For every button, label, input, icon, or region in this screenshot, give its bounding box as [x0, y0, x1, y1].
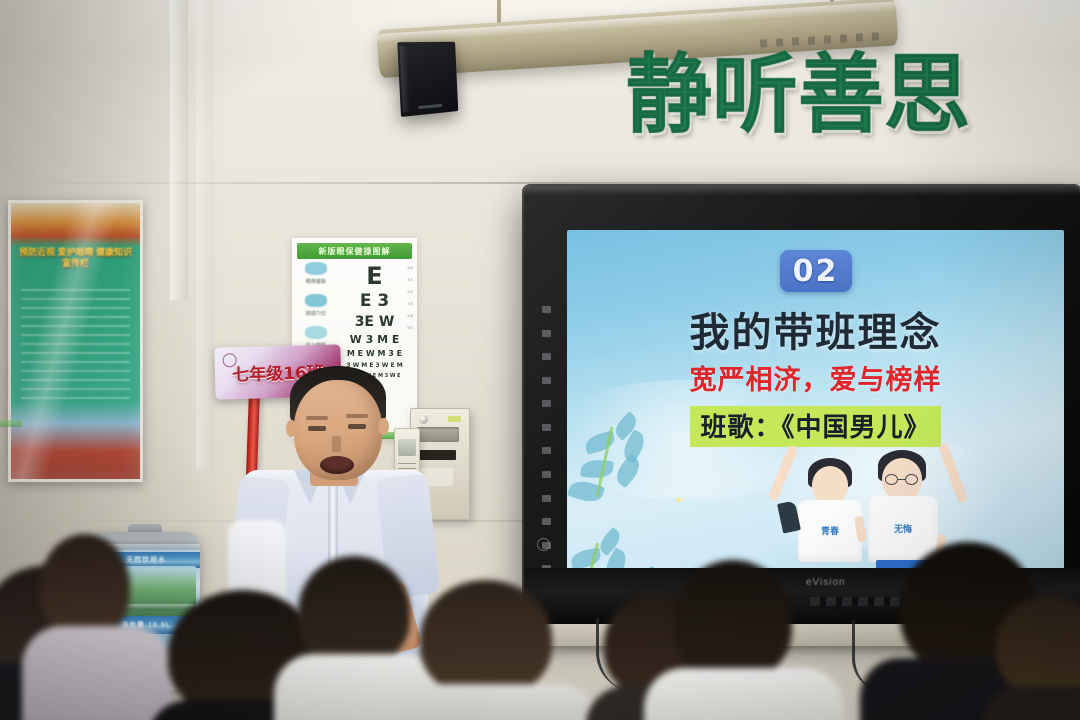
- scale-tick: 4.4: [405, 286, 416, 298]
- eye-chart-row: M E W M 3 E: [340, 347, 410, 360]
- classroom-photo: 静听善思 预防近视 爱护眼睛 健康知识宣传栏 新版眼保健操图解 眼保健操 按揉穴…: [0, 0, 1080, 720]
- board-button[interactable]: [542, 518, 551, 525]
- poster-glare: [11, 203, 140, 479]
- eye-exercise-caption-2: 按揉穴位: [297, 310, 335, 317]
- wall-speaker: [397, 42, 458, 117]
- wall-seam: [0, 182, 1080, 184]
- wall-pilaster-2: [196, 0, 214, 470]
- speaker-sheen: [399, 46, 410, 112]
- kid-right-arm-raised: [938, 442, 969, 504]
- audience-shoulders: [982, 686, 1080, 720]
- leaf: [611, 454, 644, 489]
- eye-chart-row: W 3 M E: [340, 331, 410, 347]
- board-button[interactable]: [542, 377, 551, 384]
- teacher-eye-left: [308, 426, 326, 431]
- eye-chart-row: E 3: [340, 290, 410, 312]
- teacher-eyebrow-left: [306, 416, 328, 420]
- board-button[interactable]: [542, 471, 551, 478]
- board-button[interactable]: [542, 424, 551, 431]
- eye-chart-header: 新版眼保健操图解: [297, 243, 412, 259]
- section-number-badge: 02: [780, 250, 852, 292]
- audience-head: [298, 556, 410, 666]
- kid-left-head: [812, 466, 848, 504]
- board-button[interactable]: [542, 353, 551, 360]
- slide-subtitle: 宽严相济，爱与榜样: [567, 358, 1064, 397]
- presentation-slide: ✦ ✦ 02 我的带班理念 宽严相济，爱与榜样 班歌：《中国男儿》: [567, 230, 1064, 570]
- class-song-label: 班歌：《中国男儿》: [690, 406, 940, 447]
- teacher-nose: [332, 436, 341, 452]
- board-bezel-highlight: [524, 186, 1080, 196]
- eye-exercise-icon-1: [305, 262, 327, 275]
- leaf: [580, 459, 613, 480]
- audience-head: [420, 580, 552, 696]
- scale-tick: 4.8: [405, 310, 416, 322]
- scale-tick: 5.0: [405, 322, 416, 334]
- eye-exercise-icon-3: [305, 326, 327, 339]
- scale-tick: 4.2: [405, 274, 416, 286]
- teacher-eye-right: [348, 424, 366, 429]
- teacher-eyebrow-right: [346, 414, 368, 418]
- board-side-buttons[interactable]: [542, 306, 551, 596]
- wall-motto: 静听善思: [626, 52, 970, 138]
- scale-tick: 4.0: [405, 262, 416, 274]
- audience-head: [996, 596, 1080, 696]
- teacher-ear-right: [378, 418, 389, 435]
- scale-tick: 4.6: [405, 298, 416, 310]
- kid-right-glasses-right: [905, 474, 918, 485]
- eye-exercise-caption-1: 眼保健操: [297, 278, 335, 285]
- eye-chart-row: E: [340, 262, 410, 290]
- teacher-mouth-speaking: [320, 456, 354, 474]
- kid-right-shirt-text: 无悔: [868, 522, 938, 535]
- board-button[interactable]: [542, 400, 551, 407]
- board-button[interactable]: [542, 306, 551, 313]
- kid-right-glasses-bridge: [898, 479, 905, 480]
- wall-green-strip-2: [0, 420, 22, 427]
- audience-member: [660, 560, 830, 720]
- audience-shoulders: [398, 684, 598, 720]
- slide-sparkle: ✦: [673, 492, 685, 509]
- audience-member: [412, 580, 582, 720]
- audience-shoulders: [644, 668, 844, 720]
- teacher-ear-left: [286, 420, 297, 437]
- slide-song-row: 班歌：《中国男儿》: [567, 406, 1064, 447]
- eye-chart-row: 3E W: [340, 312, 410, 331]
- board-button[interactable]: [542, 495, 551, 502]
- audience-shoulders: [22, 626, 172, 720]
- audience-head: [674, 560, 792, 680]
- health-notice-poster: 预防近视 爱护眼睛 健康知识宣传栏: [8, 200, 143, 482]
- board-button[interactable]: [542, 447, 551, 454]
- kid-left-shirt-text: 青春: [798, 524, 862, 537]
- audience-head: [40, 534, 130, 638]
- audience-member: [996, 596, 1080, 720]
- section-number: 02: [793, 254, 839, 289]
- slide-title: 我的带班理念: [567, 300, 1064, 358]
- speaker-badge: [418, 104, 442, 109]
- power-icon[interactable]: [537, 538, 550, 551]
- eye-exercise-icon-2: [305, 294, 327, 307]
- kid-left-arm-raised: [768, 444, 799, 502]
- audience-member: [30, 534, 150, 720]
- whiteboard-screen[interactable]: ✦ ✦ 02 我的带班理念 宽严相济，爱与榜样 班歌：《中国男儿》: [567, 230, 1064, 570]
- leaf: [570, 548, 602, 570]
- wall-pilaster: [170, 0, 188, 300]
- board-button[interactable]: [542, 330, 551, 337]
- kid-right-glasses-left: [885, 474, 898, 485]
